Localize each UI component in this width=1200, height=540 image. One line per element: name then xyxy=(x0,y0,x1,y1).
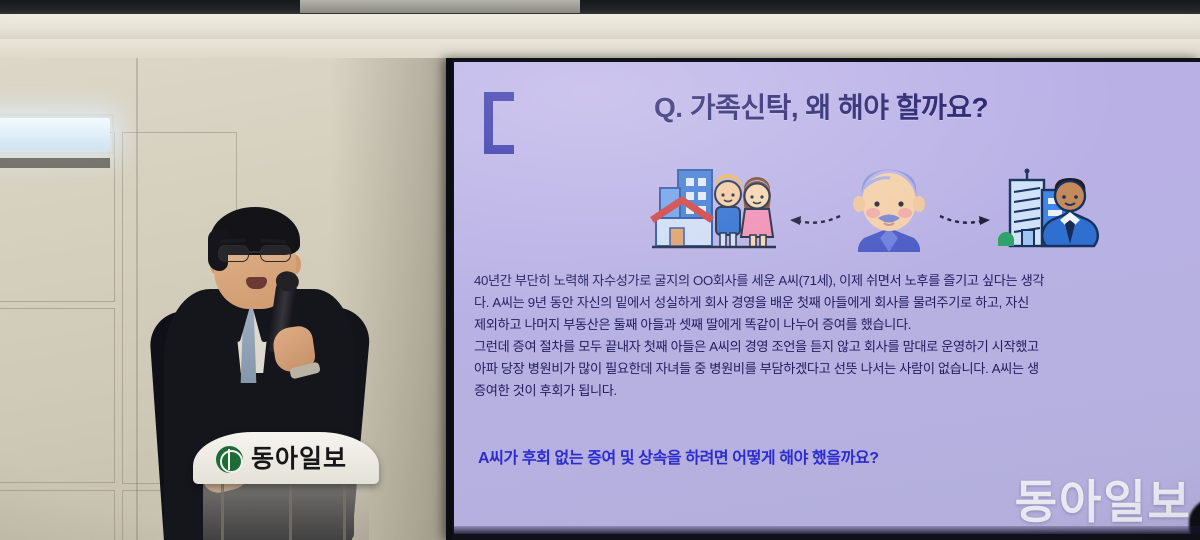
slide-illustration xyxy=(650,166,1110,252)
dong-a-ilbo-globe-icon xyxy=(216,446,243,473)
elderly-man-icon xyxy=(846,166,932,252)
body-line: 다. A씨는 9년 동안 자신의 밑에서 성실하게 회사 경영을 배운 첫째 아… xyxy=(474,292,1200,314)
lens-right xyxy=(260,245,291,262)
body-line: 증여한 것이 후회가 됩니다. xyxy=(474,380,1200,402)
wall-seam xyxy=(136,58,138,540)
wall-recess xyxy=(0,158,110,168)
screen-lower-edge xyxy=(454,526,1200,534)
slide-body-text: 40년간 부단히 노력해 자수성가로 굴지의 OO회사를 세운 A씨(71세),… xyxy=(474,270,1200,402)
body-line: 그런데 증여 절차를 모두 끝내자 첫째 아들은 A씨의 경영 조언을 듣지 않… xyxy=(474,336,1200,358)
podium-name-plate: 동아일보 xyxy=(193,432,379,484)
podium-label: 동아일보 xyxy=(251,444,347,474)
lens-left xyxy=(218,245,249,262)
body-line: 제외하고 나머지 부동산은 둘째 아들과 셋째 딸에게 똑같이 나누어 증여를 … xyxy=(474,314,1200,336)
body-line: 아파 당장 병원비가 많이 필요한데 자녀들 중 병원비를 부담하겠다고 선뜻 … xyxy=(474,358,1200,380)
wall-panel xyxy=(0,308,115,483)
wall-panel xyxy=(0,490,115,540)
slide-title: Q. 가족신탁, 왜 해야 할까요? xyxy=(654,86,1184,126)
arrow-right-dashed-icon xyxy=(936,212,994,228)
arrow-left-dashed-icon xyxy=(786,212,844,228)
podium-leg xyxy=(343,482,346,540)
body-line: 40년간 부단히 노력해 자수성가로 굴지의 OO회사를 세운 A씨(71세),… xyxy=(474,270,1200,292)
podium-leg xyxy=(221,482,224,540)
house-and-family-icon xyxy=(650,166,780,252)
eyeglasses-icon xyxy=(216,245,296,263)
slide-question-line: A씨가 후회 없는 증여 및 상속을 하려면 어떻게 해야 했을까요? xyxy=(478,444,1200,468)
podium: 동아일보 xyxy=(193,432,379,540)
ceiling-beam xyxy=(0,14,1200,40)
mouth xyxy=(246,277,267,289)
presentation-photo: Q. 가족신탁, 왜 해야 할까요? xyxy=(0,0,1200,540)
glasses-bridge xyxy=(249,251,260,253)
ceiling-light-panel xyxy=(300,0,580,13)
podium-leg xyxy=(289,482,292,540)
office-building-and-businessman-icon xyxy=(996,166,1110,252)
bracket-decoration-icon xyxy=(484,92,514,154)
watermark: 동아일보 xyxy=(1015,466,1192,532)
presentation-slide: Q. 가족신탁, 왜 해야 할까요? xyxy=(454,62,1200,534)
wall-light-fixture xyxy=(0,118,110,150)
